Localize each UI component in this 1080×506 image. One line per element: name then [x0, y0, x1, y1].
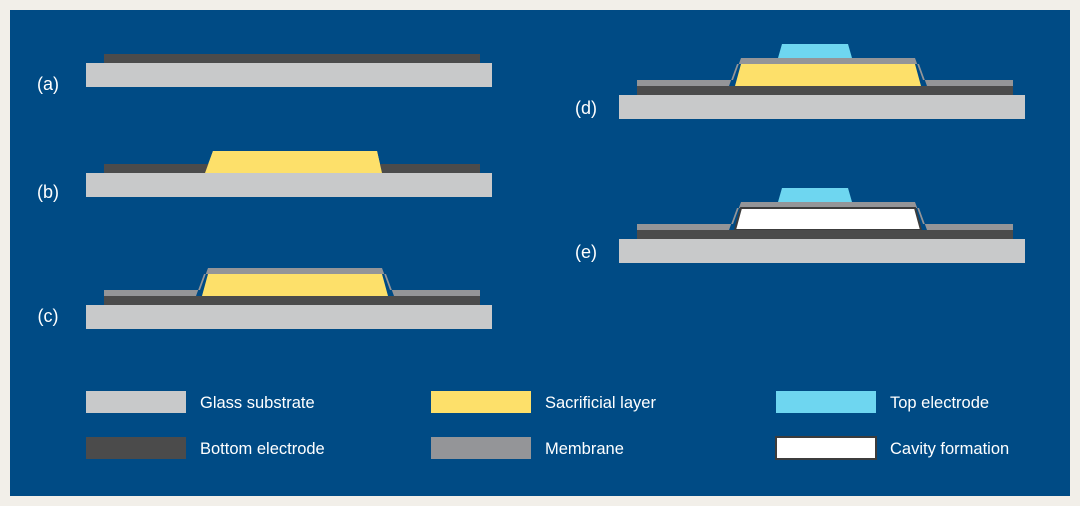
panel-e-label: (e) — [575, 242, 597, 262]
glass-substrate-swatch — [86, 391, 186, 413]
bottom-electrode-swatch — [86, 437, 186, 459]
panel-c-glass-substrate — [86, 305, 492, 329]
panel-a-bottom-electrode — [104, 54, 480, 63]
legend-item-glass-substrate: Glass substrate — [86, 391, 315, 413]
legend-item-bottom-electrode: Bottom electrode — [86, 437, 325, 459]
panel-d-glass-substrate — [619, 95, 1025, 119]
top-electrode-swatch — [776, 391, 876, 413]
panel-e-cavity — [735, 208, 921, 230]
panel-d-label: (d) — [575, 98, 597, 118]
panel-a-glass-substrate — [86, 63, 492, 87]
panel-b-glass-substrate — [86, 173, 492, 197]
legend-label-sacrificial-layer: Sacrificial layer — [545, 394, 656, 412]
panel-c-label: (c) — [38, 306, 59, 326]
panel-c-sacrificial-layer — [202, 274, 388, 296]
legend-label-cavity-formation: Cavity formation — [890, 440, 1009, 458]
panel-a-label: (a) — [37, 74, 59, 94]
panel-e-top-electrode — [778, 188, 852, 202]
panel-e-bottom-electrode — [637, 230, 1013, 239]
sacrificial-layer-swatch — [431, 391, 531, 413]
legend-label-membrane: Membrane — [545, 440, 624, 458]
panel-e-glass-substrate — [619, 239, 1025, 263]
panel-d-bottom-electrode — [637, 86, 1013, 95]
panel-d-top-electrode — [778, 44, 852, 58]
figure-canvas: (a) (b) (c) (d) — [10, 10, 1070, 496]
panel-b-label: (b) — [37, 182, 59, 202]
legend-item-membrane: Membrane — [431, 437, 624, 459]
panel-b-sacrificial-layer-front — [205, 151, 382, 173]
panel-d-sacrificial-layer — [735, 64, 921, 86]
legend-label-glass-substrate: Glass substrate — [200, 394, 315, 412]
legend-item-cavity-formation: Cavity formation — [776, 437, 1009, 459]
cavity-formation-swatch — [776, 437, 876, 459]
panel-c-bottom-electrode — [104, 296, 480, 305]
legend-label-top-electrode: Top electrode — [890, 394, 989, 412]
membrane-swatch — [431, 437, 531, 459]
process-flow-diagram: (a) (b) (c) (d) — [10, 10, 1070, 496]
legend-label-bottom-electrode: Bottom electrode — [200, 440, 325, 458]
